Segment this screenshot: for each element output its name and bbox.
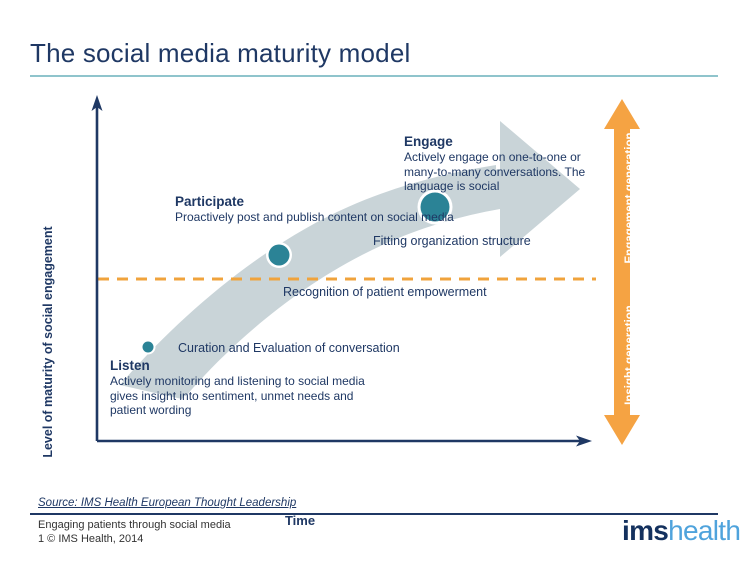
logo-health: health xyxy=(668,515,740,546)
stage-block-listen: Listen Actively monitoring and listening… xyxy=(110,357,385,418)
footer-divider xyxy=(30,513,718,515)
y-axis xyxy=(92,95,103,441)
stage-block-participate: Participate Proactively post and publish… xyxy=(175,193,465,225)
maturity-chart: Level of maturity of social engagement T… xyxy=(0,85,751,465)
slide: The social media maturity model xyxy=(0,0,751,563)
arrow-label-insight-generation: Insight generation xyxy=(624,282,636,428)
data-point-listen[interactable] xyxy=(141,340,156,355)
stage-heading-participate: Participate xyxy=(175,193,465,210)
deck-title: Engaging patients through social media xyxy=(38,519,231,531)
arrow-label-engagement-generation: Engagement generation xyxy=(624,113,636,283)
imshealth-logo: imshealth xyxy=(622,516,740,546)
stage-body-participate: Proactively post and publish content on … xyxy=(175,210,454,224)
stage-body-engage: Actively engage on one-to-one or many-to… xyxy=(404,150,585,193)
stage-block-engage: Engage Actively engage on one-to-one or … xyxy=(404,133,614,194)
stage-body-listen: Actively monitoring and listening to soc… xyxy=(110,374,365,417)
logo-ims: ims xyxy=(622,515,668,546)
milestone-recognition: Recognition of patient empowerment xyxy=(283,285,487,299)
page-title: The social media maturity model xyxy=(30,38,410,69)
milestone-fitting: Fitting organization structure xyxy=(373,234,531,248)
title-divider xyxy=(30,75,718,77)
y-axis-label: Level of maturity of social engagement xyxy=(41,212,55,472)
data-point-participate[interactable] xyxy=(266,242,292,268)
source-note: Source: IMS Health European Thought Lead… xyxy=(38,497,296,509)
copyright-line: 1 © IMS Health, 2014 xyxy=(38,533,143,545)
milestone-curation: Curation and Evaluation of conversation xyxy=(178,341,400,355)
stage-heading-engage: Engage xyxy=(404,133,614,150)
stage-heading-listen: Listen xyxy=(110,357,385,374)
x-axis xyxy=(97,436,592,447)
